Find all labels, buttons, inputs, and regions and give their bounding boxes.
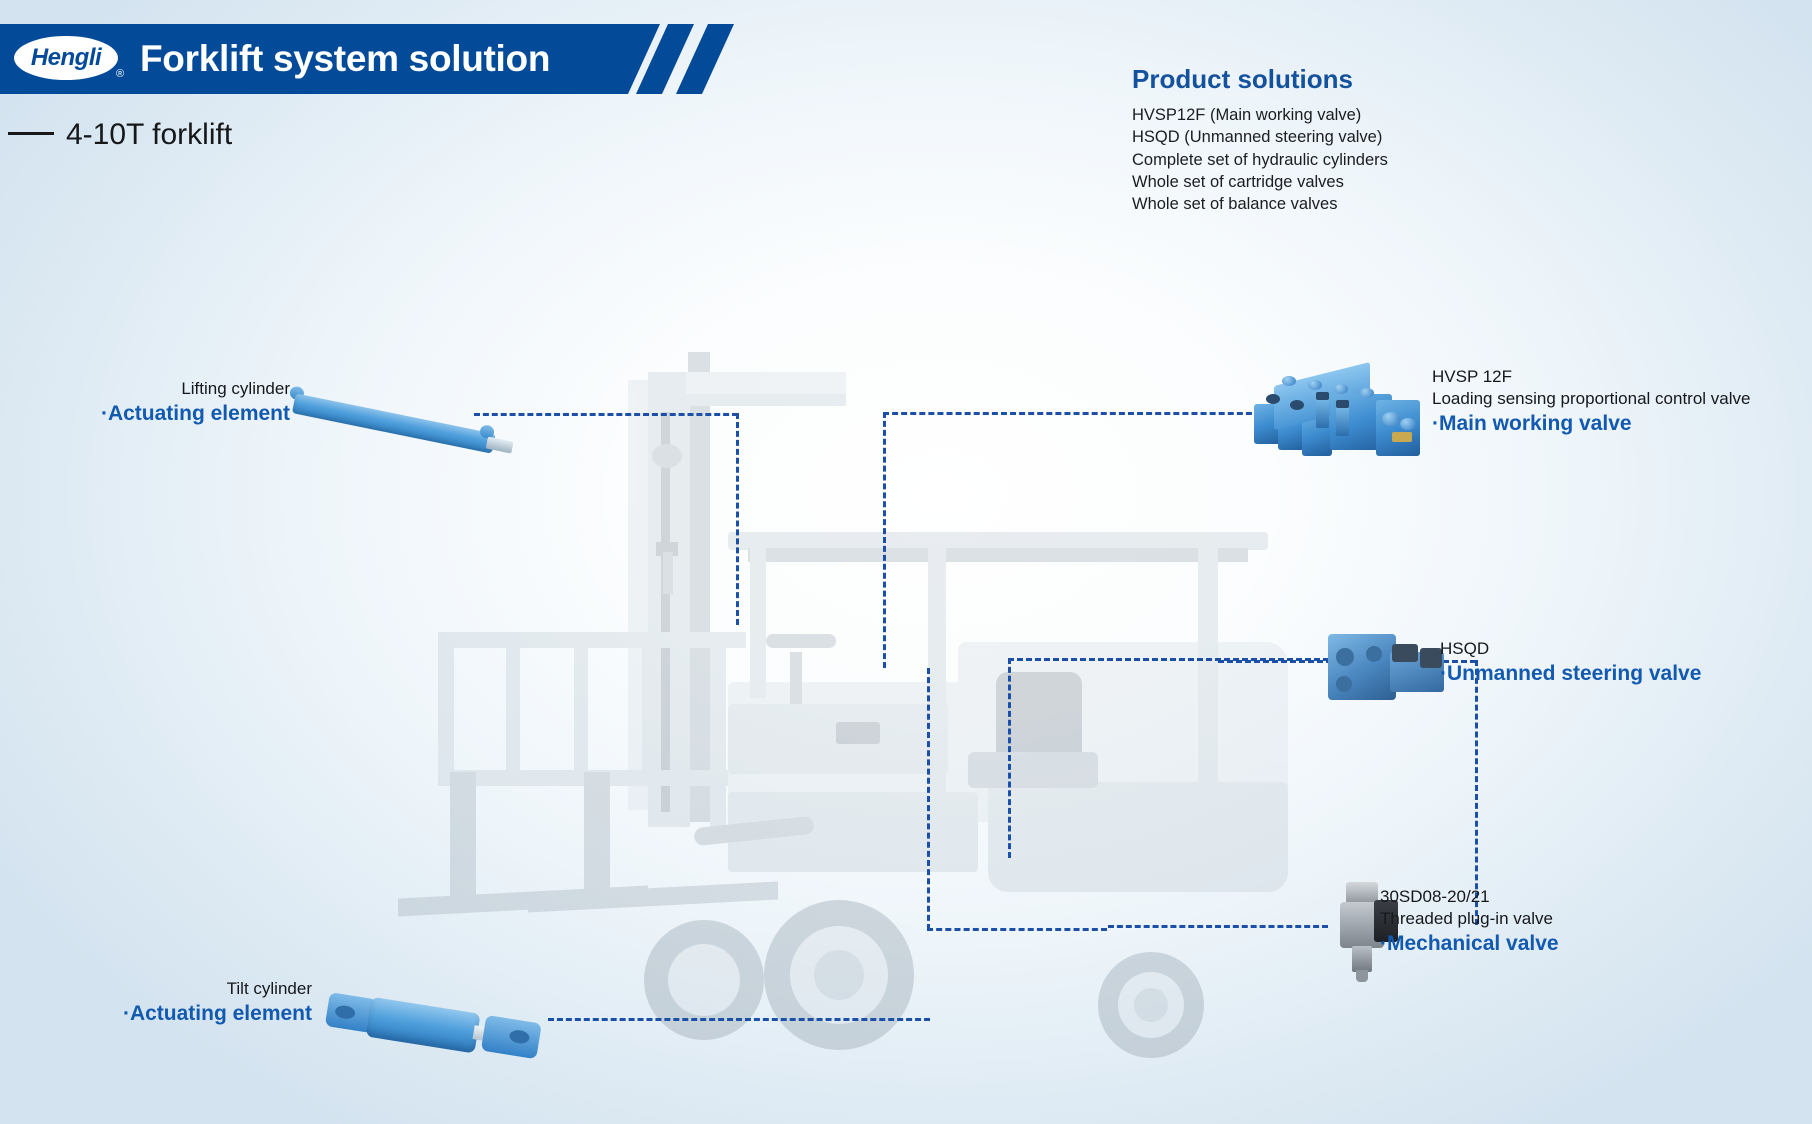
mast-rail-outer xyxy=(688,352,710,822)
cartridge-model: 30SD08-20/21 xyxy=(1380,886,1559,908)
callout-tilt-cylinder: Tilt cylinder ·Actuating element xyxy=(0,978,312,1028)
callout-hsqd: HSQD ·Unmanned steering valve xyxy=(1440,638,1701,688)
tilt-cylinder-name: Tilt cylinder xyxy=(0,978,312,1000)
cartridge-threaded-stem xyxy=(1352,946,1372,972)
valve-spool-cap xyxy=(1316,392,1329,400)
carriage-bottom-rail xyxy=(438,770,728,786)
leader-line-hvsp-drop xyxy=(927,668,930,930)
product-solutions-title: Product solutions xyxy=(1132,64,1388,95)
callout-hvsp: HVSP 12F Loading sensing proportional co… xyxy=(1432,366,1750,438)
valve-nameplate xyxy=(1392,432,1412,442)
product-solution-item: Complete set of hydraulic cylinders xyxy=(1132,149,1388,171)
lifting-cylinder-role: ·Actuating element xyxy=(0,400,290,428)
overhead-guard-rear-post xyxy=(1198,548,1218,798)
header-banner: Hengli ® Forklift system solution xyxy=(0,24,660,94)
leader-line-lifting-cylinder xyxy=(474,413,738,416)
rear-wheel xyxy=(1098,952,1204,1058)
page-title: Forklift system solution xyxy=(140,38,550,80)
steering-valve-port xyxy=(1336,648,1354,666)
instrument-cluster xyxy=(836,722,880,744)
forklift-illustration xyxy=(398,352,1298,992)
subtitle-text: 4-10T forklift xyxy=(66,118,232,151)
hengli-logo: Hengli xyxy=(14,36,118,80)
steering-valve-port xyxy=(1336,676,1352,692)
chain-hook xyxy=(663,552,673,594)
hsqd-valve-image xyxy=(1328,630,1448,708)
hsqd-model: HSQD xyxy=(1440,638,1701,660)
product-solution-item: HVSP12F (Main working valve) xyxy=(1132,104,1388,126)
tilt-cylinder-role: ·Actuating element xyxy=(0,1000,312,1028)
front-wheel-hub xyxy=(814,950,864,1000)
cartridge-tip xyxy=(1356,970,1368,982)
valve-connector xyxy=(1290,400,1304,410)
valve-knob xyxy=(1282,376,1296,386)
overhead-guard-front-post xyxy=(750,548,766,698)
overhead-guard-mid-post xyxy=(928,548,946,828)
valve-spool-cap xyxy=(1336,400,1349,408)
fork-tine-vertical xyxy=(450,772,476,902)
valve-knob xyxy=(1308,380,1322,390)
product-solution-item: Whole set of cartridge valves xyxy=(1132,171,1388,193)
carriage-left-post xyxy=(438,632,454,782)
valve-port xyxy=(1400,418,1416,430)
rear-chassis-skirt xyxy=(988,782,1288,892)
fork-tine-vertical xyxy=(584,772,610,900)
steering-valve-port xyxy=(1366,646,1382,662)
leader-line-hvsp xyxy=(883,412,1261,415)
overhead-guard-roof-shadow xyxy=(748,548,1248,562)
carriage-post xyxy=(642,632,656,782)
lifting-cylinder-name: Lifting cylinder xyxy=(0,378,290,400)
hvsp-description: Loading sensing proportional control val… xyxy=(1432,388,1750,410)
subtitle-dash-icon xyxy=(8,132,54,135)
carriage-post xyxy=(574,632,588,782)
solenoid-coil xyxy=(1420,648,1442,668)
chain-pulley xyxy=(652,444,682,468)
steering-wheel xyxy=(766,634,836,648)
product-solutions-block: Product solutions HVSP12F (Main working … xyxy=(1132,64,1388,215)
cartridge-description: Threaded plug-in valve xyxy=(1380,908,1559,930)
lift-chain xyxy=(661,412,670,812)
valve-knob xyxy=(1334,384,1348,394)
leader-line-cartridge xyxy=(1108,925,1328,928)
leader-line-lifting-cylinder-vertical xyxy=(736,413,739,625)
carriage-post xyxy=(506,632,520,782)
leader-line-hvsp-lower xyxy=(927,928,1107,931)
inner-wheel-rim xyxy=(668,944,740,1016)
front-wheel xyxy=(764,900,914,1050)
valve-knob xyxy=(1360,388,1374,398)
hsqd-role: ·Unmanned steering valve xyxy=(1440,660,1701,688)
carriage-top-rail xyxy=(438,632,746,648)
inner-wheel xyxy=(644,920,764,1040)
hvsp-valve-image xyxy=(1252,360,1422,470)
solenoid-coil xyxy=(1392,644,1418,662)
valve-spool-stem xyxy=(1316,396,1329,428)
cartridge-hex-nut xyxy=(1346,882,1378,904)
valve-port xyxy=(1382,412,1400,426)
callout-cartridge: 30SD08-20/21 Threaded plug-in valve ·Mec… xyxy=(1380,886,1559,958)
cartridge-role: ·Mechanical valve xyxy=(1380,930,1559,958)
operator-seat-cushion xyxy=(968,752,1098,788)
rear-wheel-hub xyxy=(1134,988,1168,1022)
product-solution-item: Whole set of balance valves xyxy=(1132,193,1388,215)
product-solution-item: HSQD (Unmanned steering valve) xyxy=(1132,126,1388,148)
leader-line-tilt-cylinder xyxy=(548,1018,930,1021)
registered-trademark-icon: ® xyxy=(116,68,124,80)
hvsp-role: ·Main working valve xyxy=(1432,410,1750,438)
fork-tine-horizontal xyxy=(528,881,778,912)
mast-top-beam-shadow xyxy=(686,394,846,406)
tilt-cylinder-image xyxy=(319,980,545,1083)
leader-line-hvsp-vertical xyxy=(883,412,886,668)
logo-text: Hengli xyxy=(31,44,101,72)
callout-lifting-cylinder: Lifting cylinder ·Actuating element xyxy=(0,378,290,428)
hvsp-model: HVSP 12F xyxy=(1432,366,1750,388)
carriage-right-post xyxy=(710,632,726,842)
page-subtitle: 4-10T forklift xyxy=(8,118,232,152)
tilt-cylinder-barrel xyxy=(366,997,481,1054)
valve-spool-stem xyxy=(1336,404,1349,436)
leader-line-hsqd-vertical xyxy=(1008,658,1011,858)
steering-column xyxy=(790,652,802,712)
valve-connector xyxy=(1266,394,1280,404)
